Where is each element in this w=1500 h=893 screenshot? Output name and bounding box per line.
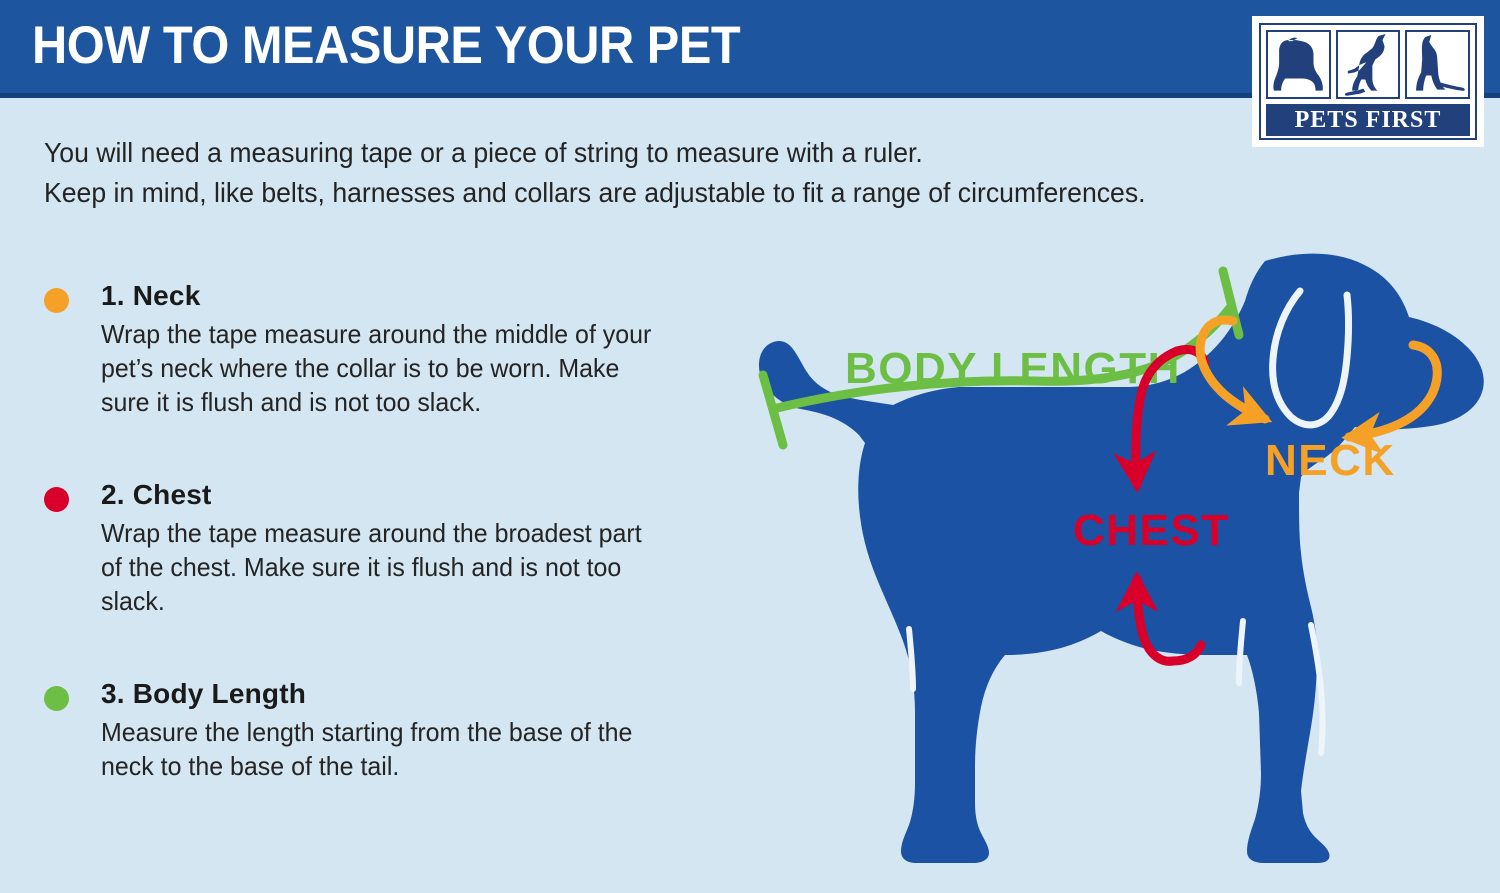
intro-paragraph: You will need a measuring tape or a piec… — [44, 133, 1175, 213]
logo-panels — [1266, 30, 1470, 99]
logo-wordmark-text: PETS FIRST — [1295, 107, 1442, 133]
dog-howling-silhouette-icon — [1336, 30, 1401, 99]
bullet-body-length-icon — [44, 686, 69, 711]
body-length-cap-right — [1223, 271, 1239, 335]
brand-logo: PETS FIRST — [1252, 16, 1484, 147]
measurement-steps-list: 1. Neck Wrap the tape measure around the… — [44, 278, 664, 841]
page-title: HOW TO MEASURE YOUR PET — [32, 16, 740, 76]
step-body-length-title: 3. Body Length — [101, 676, 664, 712]
dog-sitting-silhouette-icon — [1405, 30, 1470, 99]
neck-label: NECK — [1265, 436, 1396, 485]
step-neck-body: Wrap the tape measure around the middle … — [101, 317, 663, 419]
intro-line-2: Keep in mind, like belts, harnesses and … — [44, 173, 1175, 213]
step-neck: 1. Neck Wrap the tape measure around the… — [44, 278, 664, 419]
bullet-chest-icon — [44, 487, 69, 512]
logo-frame: PETS FIRST — [1259, 23, 1477, 140]
dog-lying-silhouette-icon — [1266, 30, 1331, 99]
bullet-neck-icon — [44, 288, 69, 313]
intro-line-1: You will need a measuring tape or a piec… — [44, 133, 1175, 173]
step-body-length: 3. Body Length Measure the length starti… — [44, 676, 664, 783]
front-leg-rear-separation — [1239, 621, 1243, 683]
step-chest-title: 2. Chest — [101, 477, 664, 513]
dog-measurement-illustration: BODY LENGTH CHEST NECK — [645, 243, 1500, 893]
step-chest: 2. Chest Wrap the tape measure around th… — [44, 477, 664, 618]
infographic-page: HOW TO MEASURE YOUR PET — [0, 0, 1500, 893]
step-chest-body: Wrap the tape measure around the broades… — [101, 516, 663, 618]
step-neck-title: 1. Neck — [101, 278, 664, 314]
chest-label: CHEST — [1073, 506, 1230, 555]
logo-wordmark: PETS FIRST — [1266, 104, 1470, 136]
hind-leg-separation — [909, 629, 913, 689]
body-length-label: BODY LENGTH — [845, 344, 1181, 393]
step-body-length-body: Measure the length starting from the bas… — [101, 715, 663, 783]
